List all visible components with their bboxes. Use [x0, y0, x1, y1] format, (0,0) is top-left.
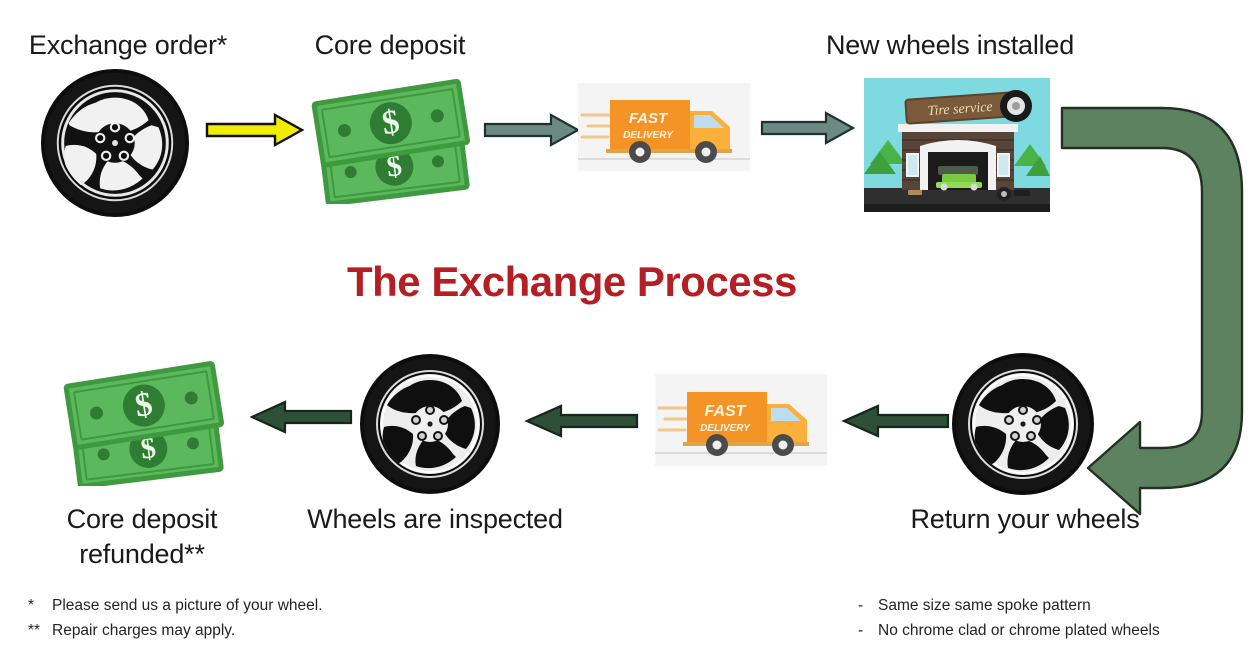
footnote-item: - Same size same spoke pattern: [858, 593, 1250, 618]
cash-money-icon-refund: $ $: [58, 356, 236, 486]
money-svg-bottom: $ $: [58, 356, 236, 486]
arrow-order-to-deposit: [205, 112, 305, 148]
arrow-right-slate-icon-1: [483, 113, 581, 147]
page-title: The Exchange Process: [347, 258, 797, 306]
svg-text:FAST: FAST: [629, 110, 669, 127]
tire-service-shop-icon: Tire service: [864, 78, 1050, 212]
arrow-right-yellow-icon: [205, 112, 305, 148]
footnotes-right: - Same size same spoke pattern - No chro…: [858, 593, 1250, 643]
arrow-left-green-icon-1: [248, 400, 353, 434]
footnotes-left: * Please send us a picture of your wheel…: [28, 593, 448, 643]
step-label-core-deposit: Core deposit: [290, 28, 490, 63]
truck-svg-top: FAST DELIVERY: [578, 83, 750, 171]
arrow-truck-to-shop: [760, 111, 856, 145]
money-svg-top: $ $: [306, 72, 478, 204]
wheel-dark-svg: [36, 68, 194, 218]
alloy-wheel-light-icon-inspected: [357, 352, 503, 495]
step-label-wheels-are-inspected: Wheels are inspected: [300, 502, 570, 537]
fast-delivery-truck-icon-bottom: FAST DELIVERY: [655, 374, 827, 466]
wheel-light-svg-1: [357, 352, 503, 495]
alloy-wheel-dark-icon: [36, 68, 194, 218]
step-label-core-deposit-refunded: Core deposit refunded**: [32, 502, 252, 571]
step-label-return-your-wheels: Return your wheels: [905, 502, 1145, 537]
arrow-right-slate-icon-2: [760, 111, 856, 145]
wheel-light-svg-2: [948, 352, 1098, 496]
footnote-text: Same size same spoke pattern: [878, 593, 1091, 618]
arrow-truck-to-inspection: [523, 404, 639, 438]
footnote-mark: *: [28, 593, 52, 618]
svg-text:FAST: FAST: [705, 403, 747, 420]
step-label-exchange-order: Exchange order*: [18, 28, 238, 63]
cash-money-icon: $ $: [306, 72, 478, 204]
footnote-mark: -: [858, 618, 878, 643]
truck-svg-bottom: FAST DELIVERY: [655, 374, 827, 466]
footnote-item: - No chrome clad or chrome plated wheels: [858, 618, 1250, 643]
refund-label-line2: refunded**: [79, 539, 205, 569]
exchange-process-diagram: Exchange order* Core deposit New wheels …: [0, 0, 1250, 666]
arrow-return-to-truck: [840, 404, 950, 438]
shop-svg: Tire service: [864, 78, 1050, 212]
svg-text:DELIVERY: DELIVERY: [623, 130, 674, 141]
footnote-item: ** Repair charges may apply.: [28, 618, 448, 643]
refund-label-line1: Core deposit: [67, 504, 218, 534]
footnote-mark: **: [28, 618, 52, 643]
arrow-deposit-to-truck: [483, 113, 581, 147]
fast-delivery-truck-icon-top: FAST DELIVERY: [578, 83, 750, 171]
footnote-text: Repair charges may apply.: [52, 618, 235, 643]
alloy-wheel-light-icon-return: [948, 352, 1098, 496]
arrow-left-green-icon-2: [523, 404, 639, 438]
step-label-new-wheels-installed: New wheels installed: [805, 28, 1095, 63]
svg-text:DELIVERY: DELIVERY: [700, 423, 751, 434]
arrow-inspection-to-refund: [248, 400, 353, 434]
footnote-text: No chrome clad or chrome plated wheels: [878, 618, 1160, 643]
footnote-text: Please send us a picture of your wheel.: [52, 593, 323, 618]
footnote-item: * Please send us a picture of your wheel…: [28, 593, 448, 618]
footnote-mark: -: [858, 593, 878, 618]
arrow-left-green-icon-3: [840, 404, 950, 438]
